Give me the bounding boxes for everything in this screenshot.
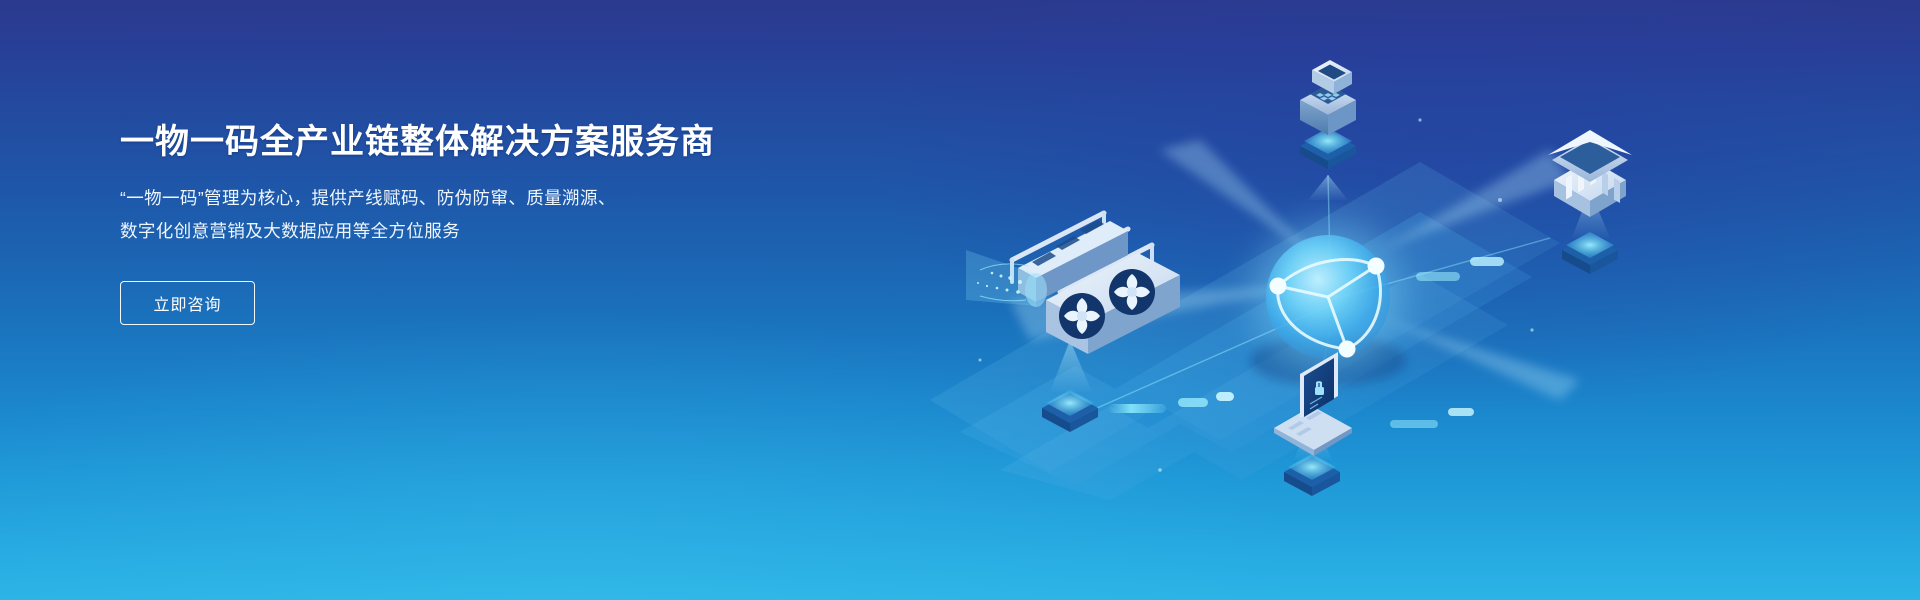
- fan-left: [1059, 293, 1105, 339]
- fan-right: [1109, 269, 1155, 315]
- page-title: 一物一码全产业链整体解决方案服务商: [120, 120, 840, 164]
- code-scanner-beam: [966, 250, 1047, 307]
- consult-now-button[interactable]: 立即咨询: [120, 281, 255, 325]
- glow-pad-laptop: [1284, 454, 1340, 496]
- subcopy-line-1: “一物一码”管理为核心，提供产线赋码、防伪防窜、质量溯源、: [120, 182, 680, 215]
- glow-pad-bank: [1562, 232, 1618, 274]
- dash-pill-lower-right: [1390, 408, 1474, 428]
- pos-terminal-icon: [1300, 60, 1356, 135]
- subcopy-line-2: 数字化创意营销及大数据应用等全方位服务: [120, 215, 680, 248]
- iot-network-illustration: [860, 0, 1920, 600]
- pos-terminal-node: [1300, 60, 1356, 200]
- hero-banner: 一物一码全产业链整体解决方案服务商 “一物一码”管理为核心，提供产线赋码、防伪防…: [0, 0, 1920, 600]
- hero-subcopy: “一物一码”管理为核心，提供产线赋码、防伪防窜、质量溯源、 数字化创意营销及大数…: [120, 182, 680, 248]
- bank-building-node: [1548, 130, 1632, 274]
- hero-copy: 一物一码全产业链整体解决方案服务商 “一物一码”管理为核心，提供产线赋码、防伪防…: [120, 120, 840, 325]
